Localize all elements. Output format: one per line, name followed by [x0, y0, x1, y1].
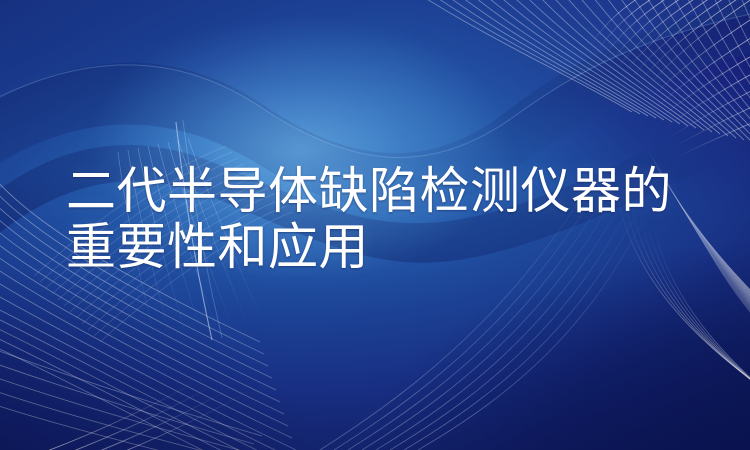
title-line-1: 二代半导体缺陷检测仪器的 — [66, 163, 706, 219]
title-line-2: 重要性和应用 — [66, 219, 706, 275]
moire-fan-top-right-cross — [582, 0, 750, 166]
poster-canvas: 二代半导体缺陷检测仪器的 重要性和应用 — [0, 0, 750, 450]
moire-fan-top-right — [398, 0, 750, 160]
poster-title: 二代半导体缺陷检测仪器的 重要性和应用 — [66, 163, 706, 275]
